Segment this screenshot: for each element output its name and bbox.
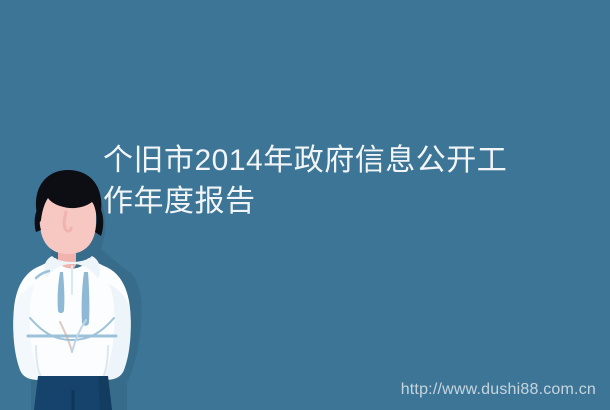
hair-sideburn-right bbox=[95, 210, 103, 236]
hair-sideburn-left bbox=[35, 210, 41, 232]
page-title: 个旧市2014年政府信息公开工作年度报告 bbox=[103, 140, 523, 222]
hoodie-body bbox=[13, 258, 131, 380]
hoodie-pocket bbox=[30, 318, 114, 340]
hoodie-pocket-crease-left bbox=[60, 322, 72, 352]
image-canvas: 个旧市2014年政府信息公开工作年度报告 http://www.dushi88.… bbox=[0, 0, 610, 410]
hoodie-hem-left bbox=[36, 346, 42, 380]
hoodie-collar bbox=[44, 256, 100, 278]
source-watermark: http://www.dushi88.com.cn bbox=[401, 380, 596, 400]
ear bbox=[35, 216, 39, 228]
hair bbox=[36, 170, 101, 222]
nose bbox=[64, 212, 71, 231]
drawstring-right bbox=[82, 272, 90, 326]
neck bbox=[58, 238, 76, 270]
face bbox=[40, 176, 96, 254]
hoodie-sleeve-right bbox=[104, 284, 131, 380]
trousers-shadow bbox=[98, 376, 112, 410]
shoulder-seam bbox=[36, 271, 49, 278]
hoodie-hem-right bbox=[102, 346, 108, 380]
trousers bbox=[34, 376, 112, 410]
hoodie-sleeve-left bbox=[13, 284, 40, 380]
drawstring-left bbox=[58, 272, 65, 313]
hoodie-pocket-crease-right bbox=[72, 320, 86, 352]
